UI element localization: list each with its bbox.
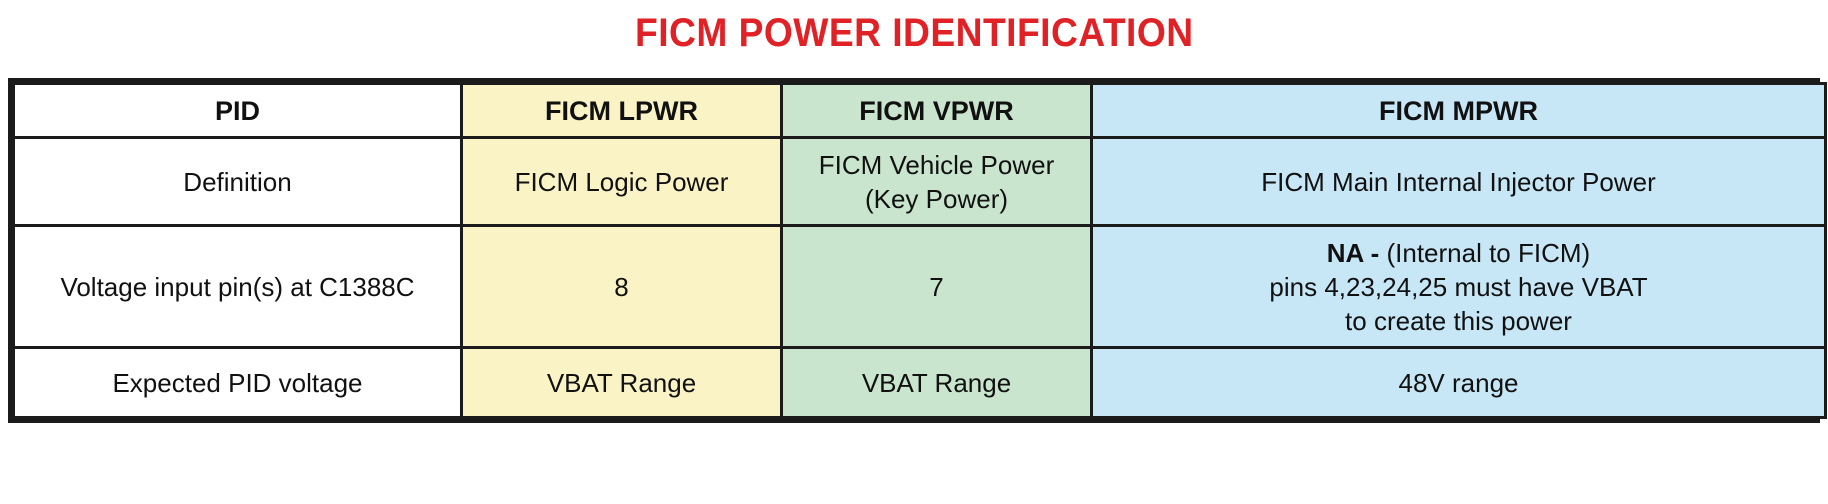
page-root: FICM POWER IDENTIFICATION PID FICM LPWR … xyxy=(0,0,1828,504)
cell-voltage-mpwr-na-label: NA - xyxy=(1327,238,1387,268)
cell-voltage-mpwr-line2: pins 4,23,24,25 must have VBAT xyxy=(1269,272,1647,302)
row-label-definition: Definition xyxy=(14,138,462,226)
table-row-expected-voltage: Expected PID voltage VBAT Range VBAT Ran… xyxy=(14,348,1826,418)
cell-voltage-mpwr: NA - (Internal to FICM) pins 4,23,24,25 … xyxy=(1092,226,1826,348)
cell-definition-vpwr: FICM Vehicle Power (Key Power) xyxy=(782,138,1092,226)
header-ficm-vpwr: FICM VPWR xyxy=(782,84,1092,138)
header-ficm-lpwr: FICM LPWR xyxy=(462,84,782,138)
table-row-definition: Definition FICM Logic Power FICM Vehicle… xyxy=(14,138,1826,226)
header-ficm-mpwr: FICM MPWR xyxy=(1092,84,1826,138)
cell-definition-vpwr-line1: FICM Vehicle Power xyxy=(819,150,1055,180)
cell-expected-lpwr: VBAT Range xyxy=(462,348,782,418)
cell-expected-vpwr: VBAT Range xyxy=(782,348,1092,418)
cell-definition-mpwr: FICM Main Internal Injector Power xyxy=(1092,138,1826,226)
row-label-expected-voltage: Expected PID voltage xyxy=(14,348,462,418)
cell-voltage-lpwr: 8 xyxy=(462,226,782,348)
table-header-row: PID FICM LPWR FICM VPWR FICM MPWR xyxy=(14,84,1826,138)
cell-voltage-vpwr: 7 xyxy=(782,226,1092,348)
row-label-voltage-input: Voltage input pin(s) at C1388C xyxy=(14,226,462,348)
ficm-power-table: PID FICM LPWR FICM VPWR FICM MPWR Defini… xyxy=(12,82,1827,419)
cell-expected-mpwr: 48V range xyxy=(1092,348,1826,418)
cell-definition-lpwr: FICM Logic Power xyxy=(462,138,782,226)
ficm-power-table-container: PID FICM LPWR FICM VPWR FICM MPWR Defini… xyxy=(8,78,1820,423)
header-pid: PID xyxy=(14,84,462,138)
page-title: FICM POWER IDENTIFICATION xyxy=(635,11,1194,55)
page-title-bar: FICM POWER IDENTIFICATION xyxy=(0,0,1828,62)
cell-definition-vpwr-line2: (Key Power) xyxy=(865,184,1008,214)
table-row-voltage-input: Voltage input pin(s) at C1388C 8 7 NA - … xyxy=(14,226,1826,348)
cell-voltage-mpwr-line3: to create this power xyxy=(1345,306,1572,336)
cell-voltage-mpwr-line1-rest: (Internal to FICM) xyxy=(1386,238,1590,268)
